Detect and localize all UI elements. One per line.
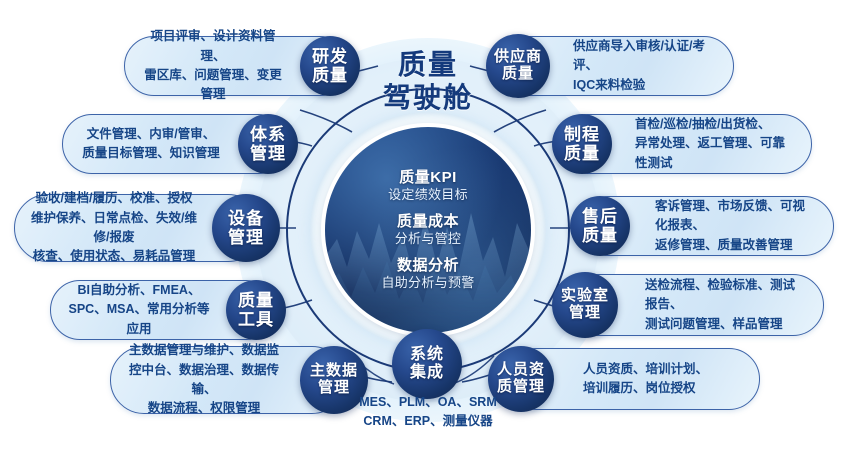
module-badge-process-quality[interactable]: 制程 质量: [552, 114, 612, 174]
core-title-analysis: 数据分析: [381, 257, 474, 275]
page-title-line1: 质量: [378, 48, 478, 81]
core-block-analysis: 数据分析 自助分析与预警: [381, 257, 474, 291]
core-block-kpi: 质量KPI 设定绩效目标: [388, 169, 468, 203]
module-badge-lab-mgmt[interactable]: 实验室 管理: [552, 272, 618, 338]
page-title-line2: 驾驶舱: [378, 81, 478, 114]
infographic-canvas: 质量KPI 设定绩效目标 质量成本 分析与管控 数据分析 自助分析与预警 质量 …: [0, 0, 845, 458]
core-text-group: 质量KPI 设定绩效目标 质量成本 分析与管控 数据分析 自助分析与预警: [325, 127, 531, 333]
module-badge-system-integration[interactable]: 系统 集成: [392, 329, 462, 399]
core-title-cost: 质量成本: [395, 213, 462, 231]
core-title-kpi: 质量KPI: [388, 169, 468, 187]
core-block-cost: 质量成本 分析与管控: [395, 213, 462, 247]
module-badge-system-mgmt[interactable]: 体系 管理: [238, 114, 298, 174]
core-circle: 质量KPI 设定绩效目标 质量成本 分析与管控 数据分析 自助分析与预警: [325, 127, 531, 333]
module-badge-aftersales-quality[interactable]: 售后 质量: [570, 196, 630, 256]
core-sub-cost: 分析与管控: [395, 231, 462, 247]
module-text-system-integration: MES、PLM、OA、SRM CRM、ERP、测量仪器: [330, 393, 526, 431]
core-sub-kpi: 设定绩效目标: [388, 187, 468, 203]
module-badge-supplier-quality[interactable]: 供应商 质量: [486, 34, 550, 98]
module-badge-equipment-mgmt[interactable]: 设备 管理: [212, 194, 280, 262]
core-sub-analysis: 自助分析与预警: [381, 275, 474, 291]
page-title: 质量 驾驶舱: [378, 48, 478, 114]
module-badge-rd-quality[interactable]: 研发 质量: [300, 36, 360, 96]
module-badge-quality-tools[interactable]: 质量 工具: [226, 280, 286, 340]
